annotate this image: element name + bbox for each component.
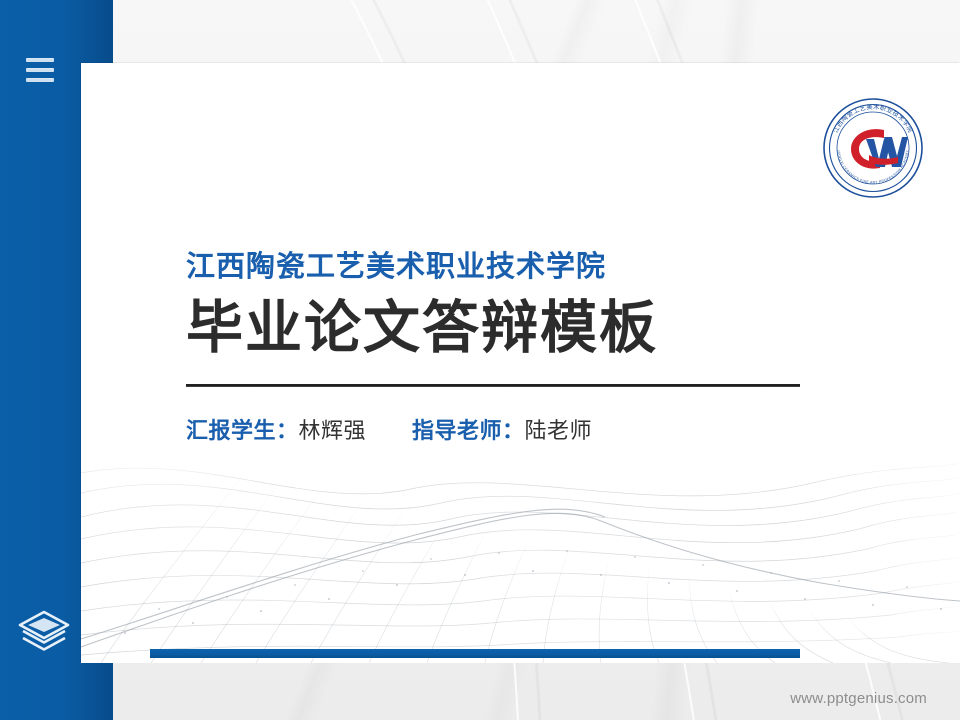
student-name: 林辉强 <box>299 413 367 445</box>
advisor-name: 陆老师 <box>525 413 593 445</box>
student-label: 汇报学生： <box>186 413 299 445</box>
slide-surface: 江西陶瓷工艺美术职业技术学院 JIANGXI CERAMICS FINE ART… <box>81 63 960 663</box>
university-logo: 江西陶瓷工艺美术职业技术学院 JIANGXI CERAMICS FINE ART… <box>822 97 924 199</box>
layers-stack-icon[interactable] <box>16 608 72 656</box>
site-watermark: www.pptgenius.com <box>790 690 927 707</box>
advisor-label: 指导老师： <box>412 413 525 445</box>
page-title: 毕业论文答辩模板 <box>186 296 906 362</box>
university-name: 江西陶瓷工艺美术职业技术学院 <box>186 248 906 284</box>
presentation-slide-canvas: 江西陶瓷工艺美术职业技术学院 JIANGXI CERAMICS FINE ART… <box>0 0 960 720</box>
title-block: 江西陶瓷工艺美术职业技术学院 毕业论文答辩模板 汇报学生： 林辉强 指导老师： … <box>186 248 906 445</box>
wireframe-mesh-decoration <box>81 433 960 663</box>
title-divider <box>186 384 800 387</box>
slide-bottom-accent-bar <box>150 649 800 658</box>
hamburger-icon[interactable] <box>26 58 54 82</box>
byline: 汇报学生： 林辉强 指导老师： 陆老师 <box>186 413 906 445</box>
